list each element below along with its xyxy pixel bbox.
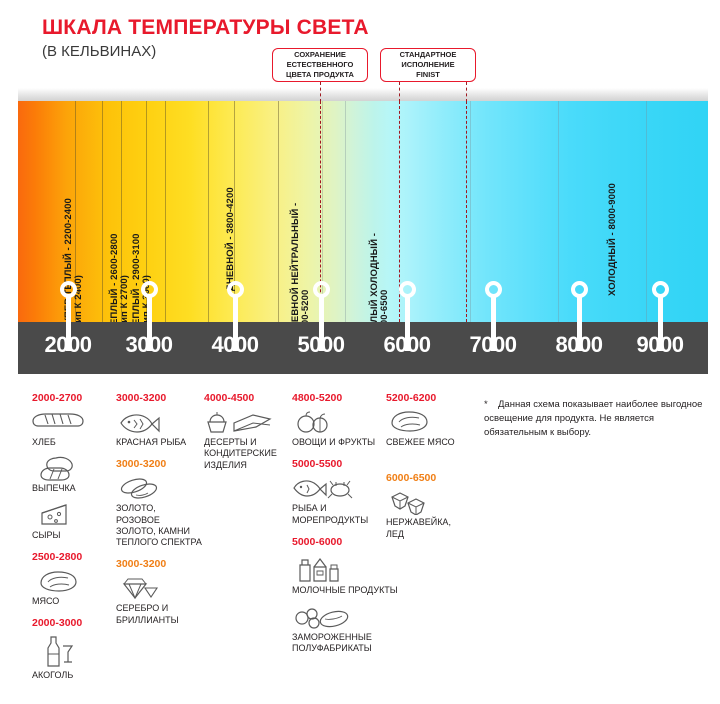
callout-stem-finist xyxy=(399,82,400,102)
callout-line-2: ЕСТЕСТВЕННОГО xyxy=(286,60,354,70)
callout-line-1: СОХРАНЕНИЕ xyxy=(286,50,354,60)
fresh-meat-icon xyxy=(386,409,438,435)
legend-column-5: 5200-6200 СВЕЖЕЕ МЯСО 6000-6500 xyxy=(386,392,468,547)
bar-top-shadow xyxy=(18,88,708,102)
callout-standard-finist: СТАНДАРТНОЕ ИСПОЛНЕНИЕ FINIST xyxy=(380,48,476,82)
legend-item: СВЕЖЕЕ МЯСО xyxy=(386,409,468,448)
pastry-icon xyxy=(32,455,84,481)
dairy-icon xyxy=(292,553,354,583)
legend-column-3: 4000-4500 ДЕСЕРТЫ И КОНДИТЕРСКИЕ ИЗДЕЛИЯ xyxy=(204,392,290,478)
legend-group: 3000-3200 СЕРЕБРО И БРИЛЛИАНТЫ xyxy=(116,558,202,626)
legend-item: ОВОЩИ И ФРУКТЫ xyxy=(292,409,384,448)
legend-group: 2500-2800 МЯСО xyxy=(32,551,110,607)
legend-item: ВЫПЕЧКА xyxy=(32,455,110,494)
callout-stem-finist-b xyxy=(466,82,467,102)
steel-ice-icon xyxy=(386,489,438,515)
legend-item: КРАСНАЯ РЫБА xyxy=(116,409,202,448)
legend-column-4: 4800-5200 ОВОЩИ И ФРУКТЫ 5000-5500 xyxy=(292,392,384,662)
tick-stem xyxy=(405,296,410,351)
band-label-main: ДНЕВНОЙ - 3800-4200 xyxy=(226,187,236,291)
tick-stem xyxy=(658,296,663,351)
band-separator xyxy=(470,101,471,322)
alcohol-icon xyxy=(32,634,84,668)
gold-rings-icon xyxy=(116,475,168,501)
footnote-text: Данная схема показывает наиболее выгодно… xyxy=(484,399,702,438)
legend-caption: АКОГОЛЬ xyxy=(32,670,110,681)
legend-item: СЫРЫ xyxy=(32,502,110,541)
legend-group: 5000-5500 РЫБА И МОРЕПРОДУКТЫ xyxy=(292,458,384,526)
infographic-page: ШКАЛА ТЕМПЕРАТУРЫ СВЕТА (В КЕЛЬВИНАХ) СО… xyxy=(0,0,720,704)
legend-group: 5000-6000 МОЛОЧНЫЕ ПРОДУКТЫ xyxy=(292,536,422,655)
legend-item: РЫБА И МОРЕПРОДУКТЫ xyxy=(292,475,384,526)
callout-line-3: FINIST xyxy=(400,70,457,80)
legend-caption: СЕРЕБРО И БРИЛЛИАНТЫ xyxy=(116,603,202,626)
legend-item: ДЕСЕРТЫ И КОНДИТЕРСКИЕ ИЗДЕЛИЯ xyxy=(204,409,290,471)
legend-group: 6000-6500 НЕРЖАВЕЙКА, ЛЕД xyxy=(386,472,468,540)
legend-caption: ВЫПЕЧКА xyxy=(32,483,110,494)
legend-range: 3000-3200 xyxy=(116,458,202,470)
legend-caption: МЯСО xyxy=(32,596,110,607)
legend-caption: РЫБА И МОРЕПРОДУКТЫ xyxy=(292,503,384,526)
tick-stem xyxy=(577,296,582,351)
callout-line-1: СТАНДАРТНОЕ xyxy=(400,50,457,60)
page-subtitle: (В КЕЛЬВИНАХ) xyxy=(42,43,156,60)
legend-caption: ОВОЩИ И ФРУКТЫ xyxy=(292,437,384,448)
fish-icon xyxy=(116,409,168,435)
cheese-icon xyxy=(32,502,84,528)
legend-range: 3000-3200 xyxy=(116,392,202,404)
legend-caption: ЗАМОРОЖЕННЫЕ ПОЛУФАБРИКАТЫ xyxy=(292,632,422,655)
band-separator xyxy=(208,101,209,322)
legend-item: ЗОЛОТО, РОЗОВОЕ ЗОЛОТО, КАМНИ ТЕПЛОГО СП… xyxy=(116,475,202,548)
legend-group: 5200-6200 СВЕЖЕЕ МЯСО xyxy=(386,392,468,448)
legend-item: ЗАМОРОЖЕННЫЕ ПОЛУФАБРИКАТЫ xyxy=(292,604,422,655)
legend-caption: ХЛЕБ xyxy=(32,437,110,448)
band-label-sub: (тип К 2700) xyxy=(120,234,130,323)
legend-item: МОЛОЧНЫЕ ПРОДУКТЫ xyxy=(292,553,422,596)
legend-item: НЕРЖАВЕЙКА, ЛЕД xyxy=(386,489,468,540)
band-label-sub: 4800-5200 xyxy=(301,203,311,322)
legend-item: СЕРЕБРО И БРИЛЛИАНТЫ xyxy=(116,575,202,626)
bread-icon xyxy=(32,409,84,435)
legend-group: 2000-3000 АКОГОЛЬ xyxy=(32,617,110,681)
band-separator xyxy=(558,101,559,322)
vegetables-fruits-icon xyxy=(292,409,344,435)
callout-stem-neutral xyxy=(320,82,321,102)
band-label-daylight: ДНЕВНОЙ - 3800-4200 xyxy=(226,187,236,291)
legend-caption: МОЛОЧНЫЕ ПРОДУКТЫ xyxy=(292,585,422,596)
tick-stem xyxy=(233,296,238,351)
band-separator xyxy=(165,101,166,322)
legend-range: 5000-5500 xyxy=(292,458,384,470)
tick-stem xyxy=(491,296,496,351)
legend-item: АКОГОЛЬ xyxy=(32,634,110,681)
tick-stem xyxy=(319,296,324,351)
legend-item: МЯСО xyxy=(32,568,110,607)
band-separator xyxy=(102,101,103,322)
legend-caption: СЫРЫ xyxy=(32,530,110,541)
band-label-daylight-neutral: ДНЕВНОЙ НЕЙТРАЛЬНЫЙ - 4800-5200 xyxy=(291,203,311,322)
diamond-icon xyxy=(116,575,168,601)
legend-range: 4000-4500 xyxy=(204,392,290,404)
legend-group: 3000-3200 КРАСНАЯ РЫБА xyxy=(116,392,202,448)
legend-caption: ЗОЛОТО, РОЗОВОЕ ЗОЛОТО, КАМНИ ТЕПЛОГО СП… xyxy=(116,503,202,548)
temperature-gradient-bar: СУПЕР ТЕПЛЫЙ - 2200-2400 (тип К 2400) ТЕ… xyxy=(18,101,708,322)
legend-item: ХЛЕБ xyxy=(32,409,110,448)
band-separator xyxy=(646,101,647,322)
band-label-cold: ХОЛОДНЫЙ - 8000-9000 xyxy=(608,183,618,296)
legend-range: 2000-3000 xyxy=(32,617,110,629)
band-label-sub: (тип К 2400) xyxy=(74,198,84,322)
meat-icon xyxy=(32,568,84,594)
dessert-icon xyxy=(204,409,276,435)
legend-caption: КРАСНАЯ РЫБА xyxy=(116,437,202,448)
legend-range: 2000-2700 xyxy=(32,392,110,404)
callout-natural-color: СОХРАНЕНИЕ ЕСТЕСТВЕННОГО ЦВЕТА ПРОДУКТА xyxy=(272,48,368,82)
tick-stem xyxy=(66,296,71,351)
footnote: * Данная схема показывает наиболее выгод… xyxy=(484,398,706,439)
band-label-sub: 5800-6500 xyxy=(380,233,390,322)
seafood-icon xyxy=(292,475,354,501)
callout-line-2: ИСПОЛНЕНИЕ xyxy=(400,60,457,70)
legend-column-1: 2000-2700 ХЛЕБ ВЫПЕЧКА xyxy=(32,392,110,688)
legend-group: 2000-2700 ХЛЕБ ВЫПЕЧКА xyxy=(32,392,110,541)
footnote-star: * xyxy=(484,398,488,412)
page-title: ШКАЛА ТЕМПЕРАТУРЫ СВЕТА xyxy=(42,16,369,40)
legend-group: 4800-5200 ОВОЩИ И ФРУКТЫ xyxy=(292,392,384,448)
legend-range: 2500-2800 xyxy=(32,551,110,563)
legend-caption: НЕРЖАВЕЙКА, ЛЕД xyxy=(386,517,468,540)
legend-column-2: 3000-3200 КРАСНАЯ РЫБА 3000-3200 xyxy=(116,392,202,633)
legend-range: 3000-3200 xyxy=(116,558,202,570)
legend-group: 4000-4500 ДЕСЕРТЫ И КОНДИТЕРСКИЕ ИЗДЕЛИЯ xyxy=(204,392,290,471)
legend-group: 3000-3200 ЗОЛОТО, РОЗОВОЕ ЗОЛОТО, КАМНИ … xyxy=(116,458,202,548)
frozen-food-icon xyxy=(292,604,354,630)
scale-bar: 2000 3000 4000 5000 6000 7000 8000 9000 xyxy=(18,322,708,374)
legend-range: 5200-6200 xyxy=(386,392,468,404)
legend-range: 4800-5200 xyxy=(292,392,384,404)
band-label-warm-2700: ТЕПЛЫЙ - 2600-2800 (тип К 2700) xyxy=(110,234,130,323)
legend-caption: СВЕЖЕЕ МЯСО xyxy=(386,437,468,448)
tick-stem xyxy=(147,296,152,351)
dashed-boundary xyxy=(466,101,467,322)
legend-range: 6000-6500 xyxy=(386,472,468,484)
band-separator xyxy=(278,101,279,322)
band-label-main: ХОЛОДНЫЙ - 8000-9000 xyxy=(608,183,618,296)
legend-caption: ДЕСЕРТЫ И КОНДИТЕРСКИЕ ИЗДЕЛИЯ xyxy=(204,437,290,471)
band-label-white-cold: БЕЛЫЙ ХОЛОДНЫЙ - 5800-6500 xyxy=(370,233,390,322)
callout-line-3: ЦВЕТА ПРОДУКТА xyxy=(286,70,354,80)
band-separator xyxy=(345,101,346,322)
